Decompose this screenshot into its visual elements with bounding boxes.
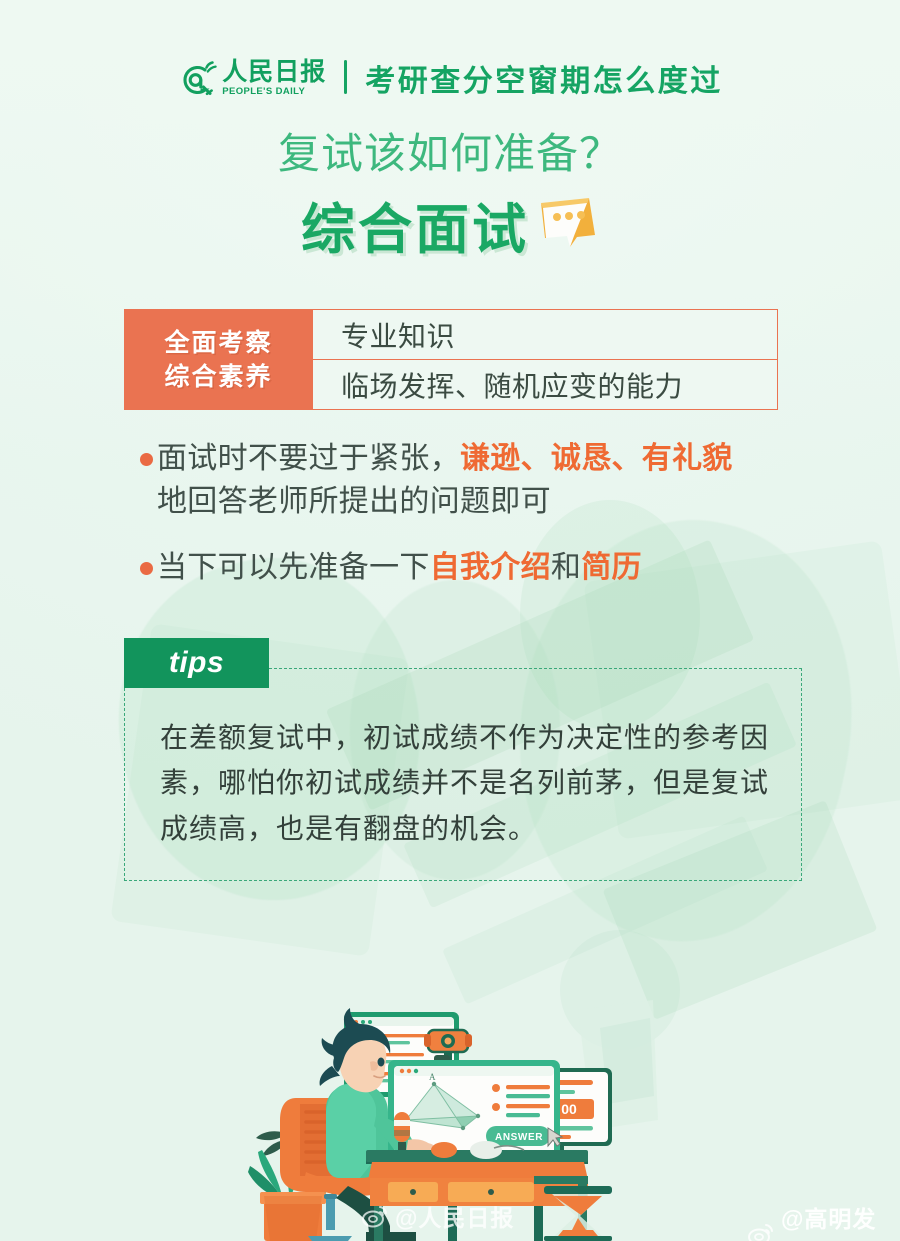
main-title: 综合面试 xyxy=(301,185,529,264)
table-row: 专业知识 xyxy=(313,309,778,360)
table-row: 临场发挥、随机应变的能力 xyxy=(313,360,778,410)
speech-bubble-icon xyxy=(537,195,599,251)
orange-dot-icon xyxy=(140,562,153,575)
main-title-row: 综合面试 xyxy=(0,185,900,264)
tips-tab-label: tips xyxy=(169,646,224,680)
hourglass-icon xyxy=(544,1186,612,1241)
bullet-segment: 地回答老师所提出的问题即可 xyxy=(157,485,551,518)
bullet-list: 面试时不要过于紧张，谦逊、诚恳、有礼貌地回答老师所提出的问题即可 当下可以先准备… xyxy=(140,438,820,614)
svg-text:A: A xyxy=(429,1072,436,1082)
table-label-line2: 综合素养 xyxy=(164,361,272,393)
poster-root: 人民日报 PEOPLE'S DAILY 考研查分空窗期怎么度过 复试该如何准备？… xyxy=(0,0,900,1241)
tips-tab: tips xyxy=(124,638,269,688)
peoples-daily-logo: 人民日报 PEOPLE'S DAILY xyxy=(177,57,326,99)
table-label-cell: 全面考察 综合素养 xyxy=(124,309,313,410)
table-label-line1: 全面考察 xyxy=(164,327,272,359)
vertical-divider xyxy=(344,60,347,94)
assessment-table: 全面考察 综合素养 专业知识 临场发挥、随机应变的能力 xyxy=(124,309,778,410)
weibo-icon xyxy=(362,1204,388,1228)
bullet-segment-highlight: 谦逊、诚恳、有礼貌 xyxy=(460,442,733,475)
header-title: 考研查分空窗期怎么度过 xyxy=(365,56,723,100)
question-title: 复试该如何准备？ xyxy=(0,120,900,181)
watermark-label: @人民日报 xyxy=(395,1199,514,1233)
answer-button-label: ANSWER xyxy=(495,1132,543,1143)
bullet-segment-highlight: 自我介绍 xyxy=(430,551,551,584)
header-bar: 人民日报 PEOPLE'S DAILY 考研查分空窗期怎么度过 xyxy=(0,56,900,100)
orange-dot-icon xyxy=(140,453,153,466)
weibo-icon xyxy=(748,1222,774,1241)
bullet-segment: 面试时不要过于紧张， xyxy=(157,442,460,475)
bullet-segment: 和 xyxy=(551,551,581,584)
bullet-segment-highlight: 简历 xyxy=(581,551,642,584)
list-item: 当下可以先准备一下自我介绍和简历 xyxy=(140,547,820,590)
list-item: 面试时不要过于紧张，谦逊、诚恳、有礼貌地回答老师所提出的问题即可 xyxy=(140,438,820,523)
bullet-text: 当下可以先准备一下自我介绍和简历 xyxy=(157,547,642,590)
table-rows: 专业知识 临场发挥、随机应变的能力 xyxy=(313,309,778,410)
logo-chinese-name: 人民日报 xyxy=(222,60,326,85)
bullet-segment: 当下可以先准备一下 xyxy=(157,551,430,584)
bullet-text: 面试时不要过于紧张，谦逊、诚恳、有礼貌地回答老师所提出的问题即可 xyxy=(157,438,733,523)
logo-english-name: PEOPLE'S DAILY xyxy=(222,85,305,99)
watermark-label: @高明发布 xyxy=(781,1200,900,1241)
watermark-right: @高明发布 xyxy=(748,1200,900,1241)
tips-body-text: 在差额复试中，初试成绩不作为决定性的参考因素，哪怕你初试成绩并不是名列前茅，但是… xyxy=(160,716,790,852)
at-signal-icon xyxy=(177,57,217,99)
watermark-center: @人民日报 xyxy=(362,1199,514,1233)
